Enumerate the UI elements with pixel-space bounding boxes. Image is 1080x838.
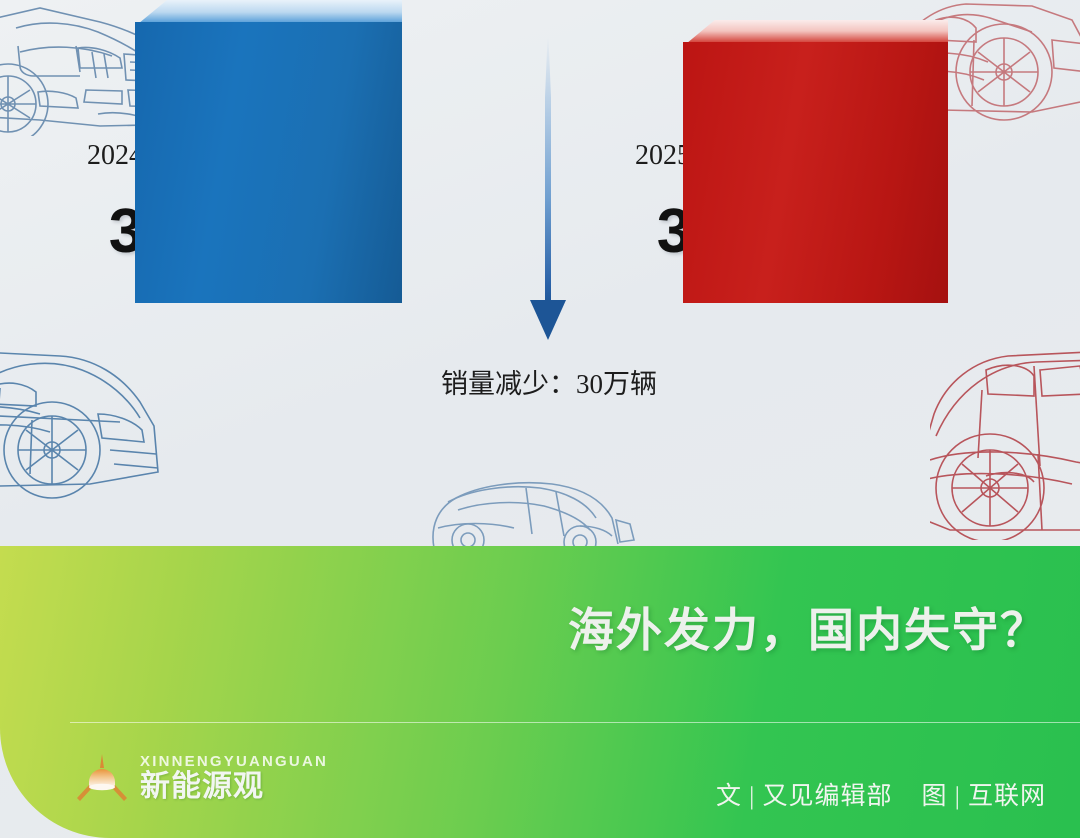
decrease-arrow-icon bbox=[532, 38, 564, 338]
bar-2025-front-face bbox=[683, 42, 948, 303]
footer-panel: 海外发力，国内失守？ bbox=[0, 546, 1080, 838]
credits-text: 文 | 又见编辑部 图 | 互联网 bbox=[716, 776, 1046, 812]
arrow-shaft bbox=[545, 38, 551, 306]
brand-text: XINNENGYUANGUAN 新能源观 bbox=[140, 754, 328, 806]
arrow-head bbox=[530, 300, 566, 340]
brand-logo: XINNENGYUANGUAN 新能源观 bbox=[74, 748, 328, 806]
infographic-poster: 2024年 2024年销量：385万辆 385万辆 销量减少：30万辆 2025… bbox=[0, 0, 1080, 838]
sun-dome-logo-icon bbox=[74, 748, 130, 806]
bar-2025-top-face bbox=[683, 20, 948, 42]
car-outline-bottom-right-icon bbox=[930, 330, 1080, 540]
bar-2024 bbox=[135, 0, 402, 303]
brand-pinyin: XINNENGYUANGUAN bbox=[140, 754, 328, 771]
bar-2024-top-face bbox=[135, 0, 402, 22]
bar-2024-front-face bbox=[135, 22, 402, 303]
brand-name-cn: 新能源观 bbox=[140, 770, 328, 804]
headline-text: 海外发力，国内失守？ bbox=[568, 594, 1048, 660]
bar-2025 bbox=[683, 20, 948, 303]
footer-divider bbox=[70, 722, 1080, 723]
